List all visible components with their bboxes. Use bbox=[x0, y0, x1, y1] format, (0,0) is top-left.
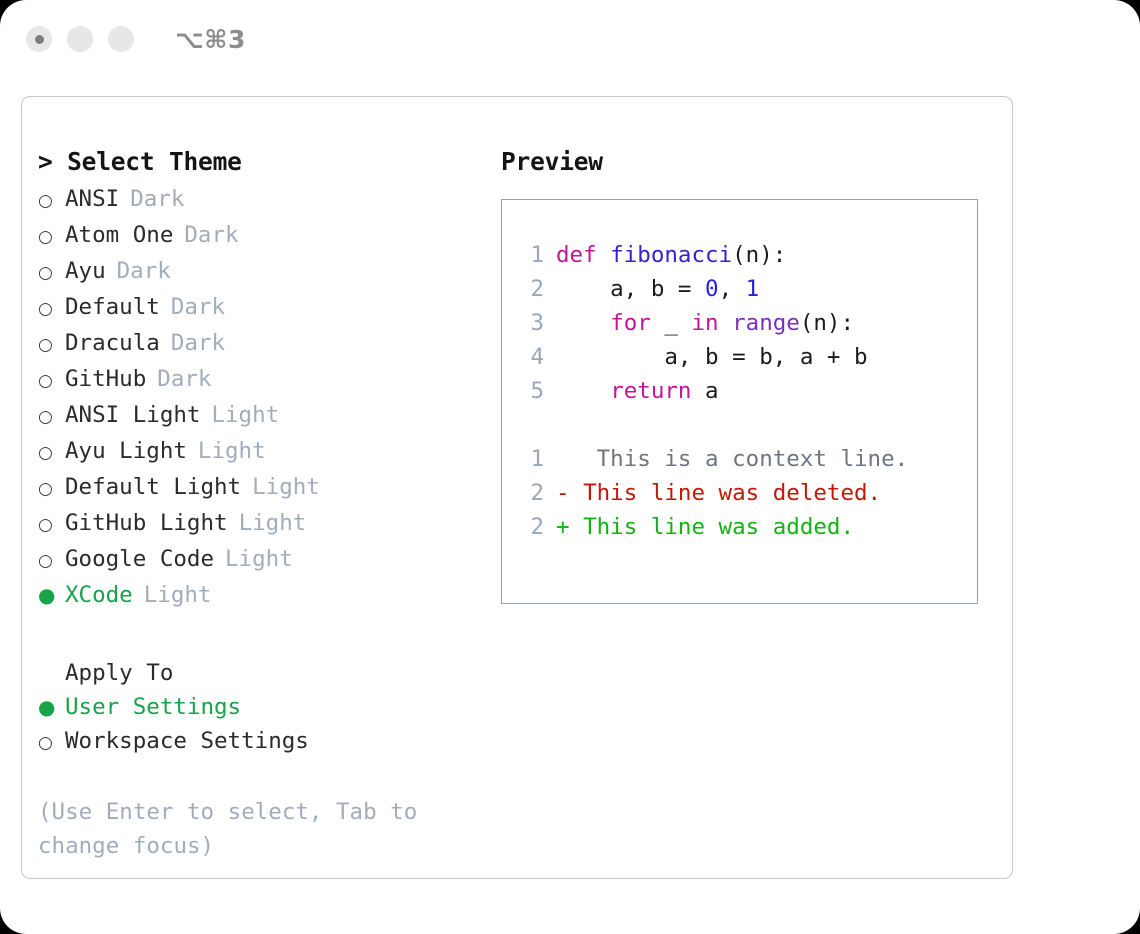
theme-option-name: Default Light bbox=[65, 470, 241, 504]
code-token-kw: return bbox=[610, 378, 691, 404]
apply-to-option-name: Workspace Settings bbox=[65, 724, 309, 758]
diff-line-add: 2+ This line was added. bbox=[514, 510, 977, 544]
code-line: 3 for _ in range(n): bbox=[514, 306, 977, 340]
diff-line-text: This line was deleted. bbox=[570, 476, 882, 510]
code-line-content: a, b = 0, 1 bbox=[556, 272, 759, 306]
theme-option-github-light[interactable]: ○GitHub LightLight bbox=[38, 506, 478, 542]
window-titlebar: ⌥⌘3 bbox=[0, 0, 1140, 78]
code-token-plain: , bbox=[719, 276, 746, 302]
diff-line-text: This is a context line. bbox=[570, 442, 909, 476]
code-token-plain: _ bbox=[651, 310, 692, 336]
code-line-content: return a bbox=[556, 374, 719, 408]
theme-list[interactable]: ○ANSIDark○Atom OneDark○AyuDark○DefaultDa… bbox=[38, 182, 478, 612]
code-line: 1def fibonacci(n): bbox=[514, 238, 977, 272]
app-window: ⌥⌘3 > Select Theme ○ANSIDark○Atom OneDar… bbox=[0, 0, 1140, 934]
diff-line-text: This line was added. bbox=[570, 510, 854, 544]
theme-option-kind: Light bbox=[239, 506, 307, 540]
theme-option-name: ANSI bbox=[65, 182, 119, 216]
window-dot-third-icon[interactable] bbox=[108, 26, 134, 52]
theme-option-name: Dracula bbox=[65, 326, 160, 360]
radio-unselected-icon: ○ bbox=[38, 184, 65, 218]
radio-unselected-icon: ○ bbox=[38, 544, 65, 578]
code-line-content: for _ in range(n): bbox=[556, 306, 854, 340]
radio-unselected-icon: ○ bbox=[38, 508, 65, 542]
radio-unselected-icon: ○ bbox=[38, 436, 65, 470]
code-token-plain bbox=[556, 378, 610, 404]
diff-line-sign bbox=[556, 442, 570, 476]
theme-option-kind: Dark bbox=[117, 254, 171, 288]
theme-option-ansi-light[interactable]: ○ANSI LightLight bbox=[38, 398, 478, 434]
diff-line-del: 2- This line was deleted. bbox=[514, 476, 977, 510]
apply-to-option-workspace-settings[interactable]: ○Workspace Settings bbox=[38, 724, 478, 760]
code-token-plain bbox=[719, 310, 733, 336]
theme-option-atom-one[interactable]: ○Atom OneDark bbox=[38, 218, 478, 254]
diff-preview: 1 This is a context line.2- This line wa… bbox=[514, 442, 977, 544]
code-token-bi: range bbox=[732, 310, 800, 336]
apply-to-group: Apply To ●User Settings○Workspace Settin… bbox=[38, 656, 478, 760]
theme-option-kind: Dark bbox=[184, 218, 238, 252]
diff-line-sign: - bbox=[556, 476, 570, 510]
theme-option-name: Atom One bbox=[65, 218, 173, 252]
radio-unselected-icon: ○ bbox=[38, 292, 65, 326]
select-theme-heading: > Select Theme bbox=[38, 147, 478, 176]
code-line: 5 return a bbox=[514, 374, 977, 408]
diff-line-number: 1 bbox=[514, 442, 544, 476]
code-token-num: 0 bbox=[705, 276, 719, 302]
theme-option-google-code[interactable]: ○Google CodeLight bbox=[38, 542, 478, 578]
code-token-plain: (n): bbox=[800, 310, 854, 336]
theme-option-xcode[interactable]: ●XCodeLight bbox=[38, 578, 478, 612]
apply-to-list[interactable]: ●User Settings○Workspace Settings bbox=[38, 690, 478, 760]
radio-unselected-icon: ○ bbox=[38, 472, 65, 506]
theme-option-github[interactable]: ○GitHubDark bbox=[38, 362, 478, 398]
code-line: 2 a, b = 0, 1 bbox=[514, 272, 977, 306]
preview-column: Preview 1def fibonacci(n):2 a, b = 0, 13… bbox=[501, 147, 996, 604]
code-line-content: def fibonacci(n): bbox=[556, 238, 786, 272]
code-token-plain: a, b = b, a + b bbox=[556, 344, 868, 370]
theme-option-kind: Light bbox=[144, 578, 212, 612]
radio-unselected-icon: ○ bbox=[38, 364, 65, 398]
window-dot-inner bbox=[35, 35, 44, 44]
code-line-number: 4 bbox=[514, 340, 544, 374]
theme-option-kind: Dark bbox=[171, 326, 225, 360]
code-token-kw: for bbox=[610, 310, 651, 336]
theme-option-name: Ayu bbox=[65, 254, 106, 288]
code-token-kw: in bbox=[691, 310, 718, 336]
radio-selected-icon: ● bbox=[38, 578, 65, 612]
window-dot-active-icon[interactable] bbox=[26, 26, 52, 52]
theme-option-name: GitHub Light bbox=[65, 506, 228, 540]
theme-option-name: Default bbox=[65, 290, 160, 324]
theme-option-default-light[interactable]: ○Default LightLight bbox=[38, 470, 478, 506]
keyboard-shortcut-label: ⌥⌘3 bbox=[175, 25, 246, 54]
theme-option-name: ANSI Light bbox=[65, 398, 200, 432]
theme-option-ayu[interactable]: ○AyuDark bbox=[38, 254, 478, 290]
theme-option-kind: Light bbox=[211, 398, 279, 432]
code-token-fn: fibonacci bbox=[610, 242, 732, 268]
radio-unselected-icon: ○ bbox=[38, 220, 65, 254]
diff-line-number: 2 bbox=[514, 510, 544, 544]
theme-option-ansi[interactable]: ○ANSIDark bbox=[38, 182, 478, 218]
code-line: 4 a, b = b, a + b bbox=[514, 340, 977, 374]
theme-option-default[interactable]: ○DefaultDark bbox=[38, 290, 478, 326]
code-line-content: a, b = b, a + b bbox=[556, 340, 868, 374]
theme-option-ayu-light[interactable]: ○Ayu LightLight bbox=[38, 434, 478, 470]
code-token-kw: def bbox=[556, 242, 597, 268]
radio-unselected-icon: ○ bbox=[38, 726, 65, 760]
code-line-number: 1 bbox=[514, 238, 544, 272]
theme-option-kind: Light bbox=[225, 542, 293, 576]
diff-line-number: 2 bbox=[514, 476, 544, 510]
theme-option-kind: Dark bbox=[130, 182, 184, 216]
theme-option-name: XCode bbox=[65, 578, 133, 612]
code-token-plain: a, b = bbox=[556, 276, 705, 302]
radio-unselected-icon: ○ bbox=[38, 400, 65, 434]
theme-picker-column: > Select Theme ○ANSIDark○Atom OneDark○Ay… bbox=[38, 147, 478, 863]
code-token-num: 1 bbox=[746, 276, 760, 302]
radio-unselected-icon: ○ bbox=[38, 328, 65, 362]
theme-option-kind: Light bbox=[198, 434, 266, 468]
main-panel: > Select Theme ○ANSIDark○Atom OneDark○Ay… bbox=[21, 96, 1013, 879]
theme-option-kind: Light bbox=[252, 470, 320, 504]
code-token-plain bbox=[597, 242, 611, 268]
code-line-number: 2 bbox=[514, 272, 544, 306]
theme-option-name: Google Code bbox=[65, 542, 214, 576]
diff-line-ctx: 1 This is a context line. bbox=[514, 442, 977, 476]
code-token-plain bbox=[556, 310, 610, 336]
code-preview: 1def fibonacci(n):2 a, b = 0, 13 for _ i… bbox=[514, 238, 977, 408]
code-diff-spacer bbox=[514, 408, 977, 442]
code-token-plain: a bbox=[691, 378, 718, 404]
keyboard-hint-text: (Use Enter to select, Tab to change focu… bbox=[38, 795, 448, 863]
theme-option-kind: Dark bbox=[171, 290, 225, 324]
preview-heading: Preview bbox=[501, 147, 996, 176]
apply-to-label: Apply To bbox=[38, 656, 478, 690]
code-token-plain: (n): bbox=[732, 242, 786, 268]
window-dot-second-icon[interactable] bbox=[67, 26, 93, 52]
theme-option-kind: Dark bbox=[157, 362, 211, 396]
apply-to-option-name: User Settings bbox=[65, 690, 241, 724]
preview-box: 1def fibonacci(n):2 a, b = 0, 13 for _ i… bbox=[501, 199, 978, 604]
code-line-number: 3 bbox=[514, 306, 544, 340]
theme-option-name: GitHub bbox=[65, 362, 146, 396]
code-line-number: 5 bbox=[514, 374, 544, 408]
theme-option-dracula[interactable]: ○DraculaDark bbox=[38, 326, 478, 362]
theme-option-name: Ayu Light bbox=[65, 434, 187, 468]
radio-unselected-icon: ○ bbox=[38, 256, 65, 290]
apply-to-option-user-settings[interactable]: ●User Settings bbox=[38, 690, 478, 724]
radio-selected-icon: ● bbox=[38, 690, 65, 724]
diff-line-sign: + bbox=[556, 510, 570, 544]
